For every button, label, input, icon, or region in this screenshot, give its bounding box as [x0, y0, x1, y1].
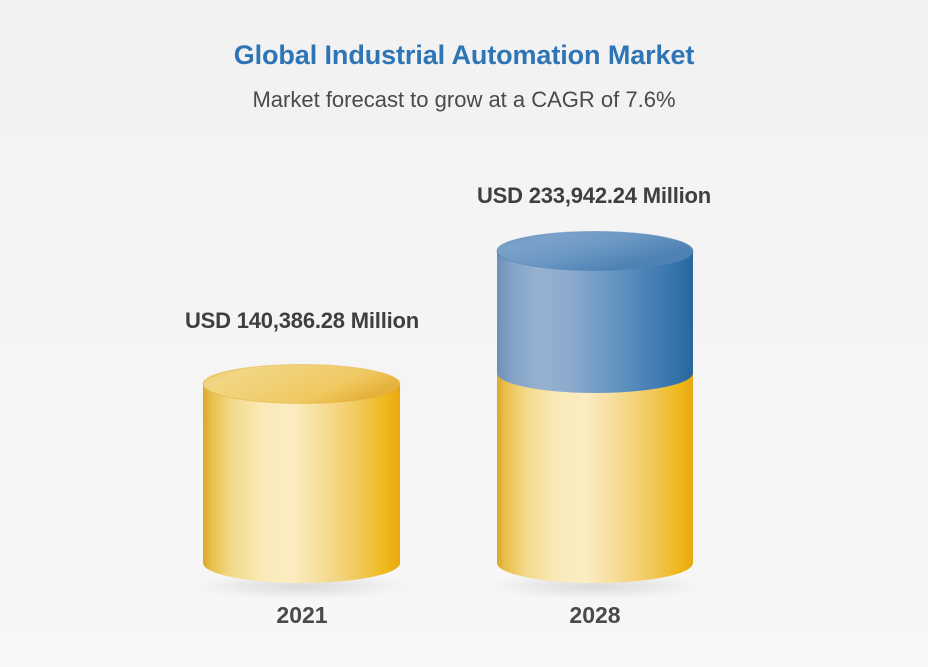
bar-body-2021 — [203, 384, 400, 583]
bar-cylinder-2021[interactable] — [203, 365, 400, 584]
bar-segment-lower-2028 — [497, 373, 693, 583]
chart-container: Global Industrial Automation Market Mark… — [0, 0, 928, 667]
category-label-2028: 2028 — [495, 602, 695, 629]
bar-value-label-2021: USD 140,386.28 Million — [0, 308, 604, 334]
bar-value-label-2028: USD 233,942.24 Million — [292, 183, 896, 209]
category-label-2021: 2021 — [202, 602, 402, 629]
bar-cylinder-2028[interactable] — [497, 232, 693, 584]
